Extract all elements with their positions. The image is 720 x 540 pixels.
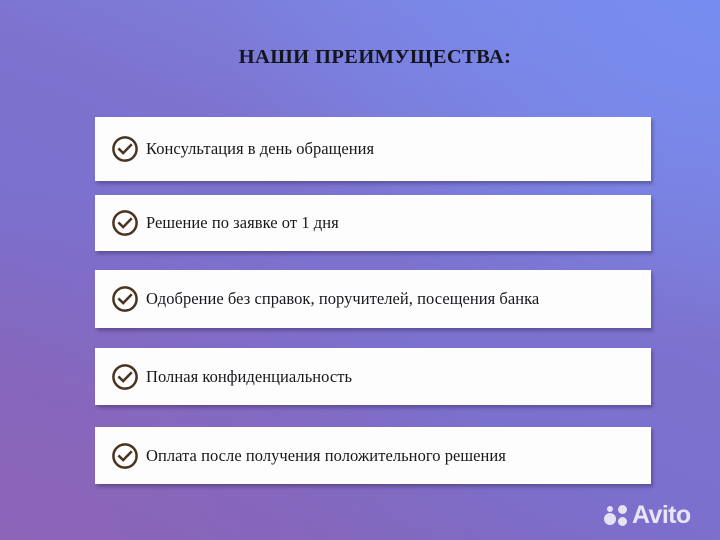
avito-logo-icon (604, 503, 629, 527)
circle-check-icon (111, 209, 139, 237)
advantage-card[interactable]: Полная конфиденциальность (95, 348, 651, 405)
advantage-label: Решение по заявке от 1 дня (146, 212, 339, 233)
page-title: НАШИ ПРЕИМУЩЕСТВА: (0, 46, 720, 69)
advantage-label: Оплата после получения положительного ре… (146, 445, 506, 466)
advantage-card[interactable]: Решение по заявке от 1 дня (95, 195, 651, 251)
advantage-label: Консультация в день обращения (146, 138, 374, 159)
circle-check-icon (111, 442, 139, 470)
advantages-slide: НАШИ ПРЕИМУЩЕСТВА: Консультация в день о… (0, 0, 720, 540)
advantage-card[interactable]: Оплата после получения положительного ре… (95, 427, 651, 484)
circle-check-icon (111, 363, 139, 391)
advantage-label: Одобрение без справок, поручителей, посе… (146, 288, 539, 309)
advantage-card[interactable]: Одобрение без справок, поручителей, посе… (95, 270, 651, 328)
circle-check-icon (111, 135, 139, 163)
avito-watermark: Avito (604, 499, 691, 531)
circle-check-icon (111, 285, 139, 313)
avito-wordmark: Avito (632, 503, 691, 528)
advantage-card[interactable]: Консультация в день обращения (95, 117, 651, 181)
advantage-label: Полная конфиденциальность (146, 366, 352, 387)
